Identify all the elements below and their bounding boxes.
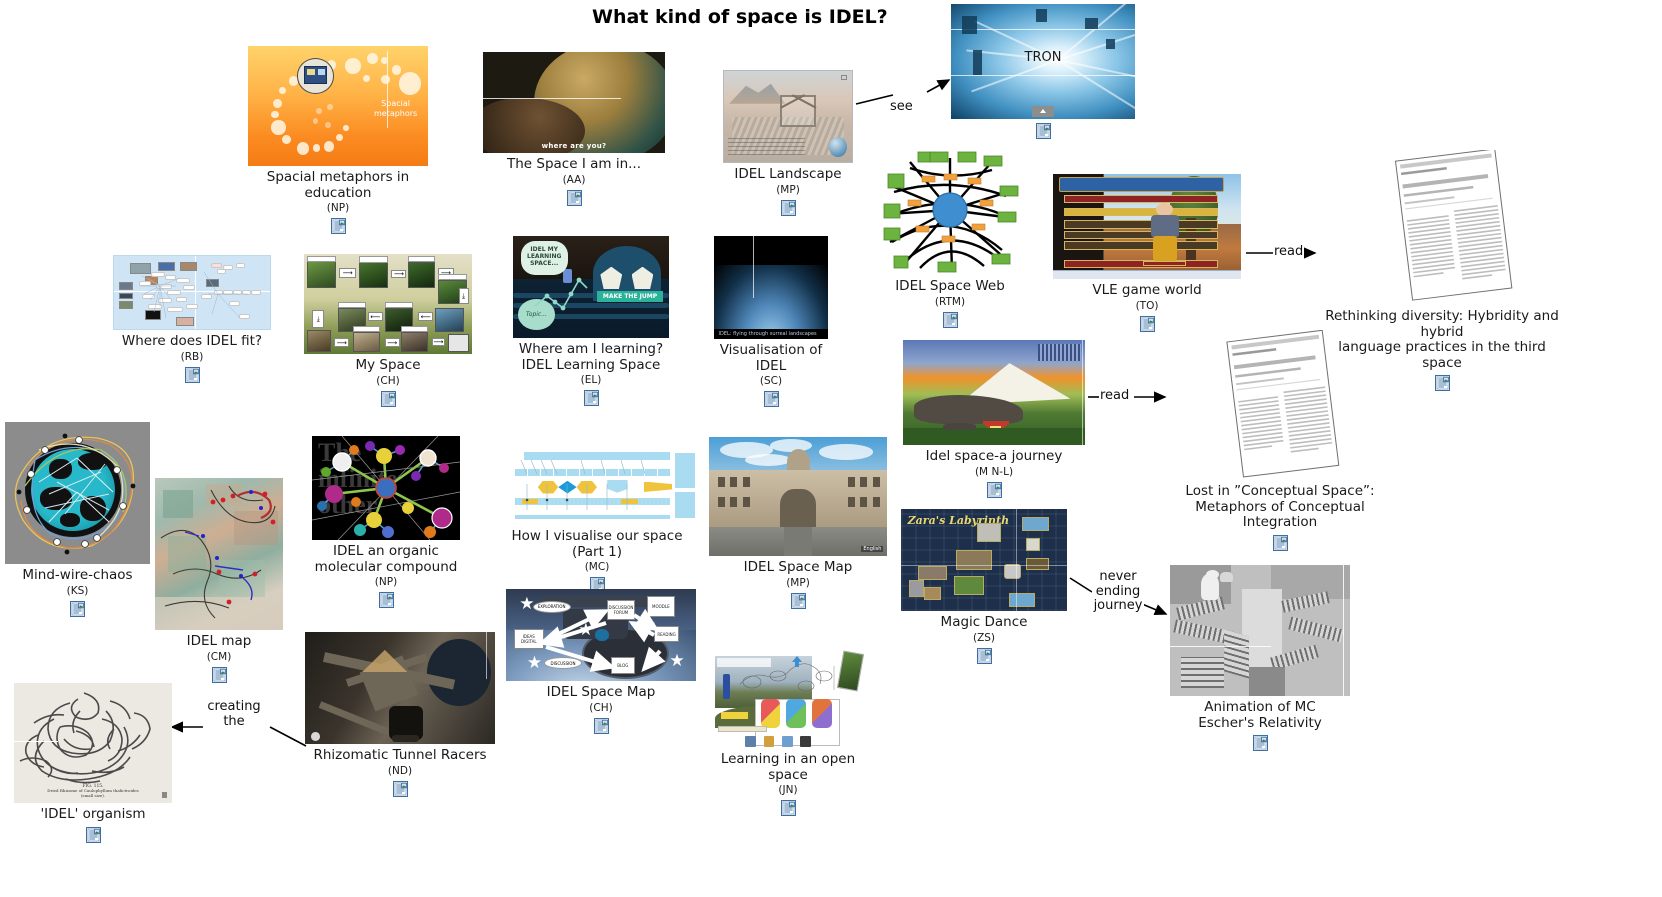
- thumbnail-idel-organic-molecular[interactable]: Theinfiniteother: [312, 436, 460, 540]
- thumbnail-paper-lost-conceptual[interactable]: [1165, 330, 1395, 480]
- node-author: (RTM): [935, 296, 965, 308]
- thumbnail-inner-text: Dried Rhizome of Caulophyllum thalictroi…: [14, 788, 172, 798]
- link-label-read-vle: read: [1273, 245, 1304, 260]
- thumbnail-idel-space-web[interactable]: [880, 150, 1020, 275]
- link-label-never-ending: never ending journey: [1092, 570, 1144, 614]
- node-how-i-visualise[interactable]: How I visualise our space (Part 1) (MC): [495, 450, 699, 593]
- document-icon[interactable]: [1253, 735, 1268, 751]
- node-idel-landscape[interactable]: IDEL Landscape (MP): [723, 70, 853, 216]
- node-label: VLE game world: [1092, 283, 1201, 299]
- node-tron[interactable]: TRON: [951, 4, 1135, 139]
- document-icon[interactable]: [791, 593, 806, 609]
- thumbnail-where-am-i-learning[interactable]: IDEL MY LEARNING SPACE... Topic... MAKE …: [513, 236, 669, 338]
- thumbnail-inner-text: TRON: [951, 50, 1135, 65]
- node-escher-relativity[interactable]: Animation of MC Escher's Relativity: [1170, 565, 1350, 751]
- node-label: How I visualise our space (Part 1): [495, 529, 699, 560]
- node-label: 'IDEL' organism: [40, 807, 145, 823]
- node-author: (EL): [581, 374, 602, 386]
- document-icon[interactable]: [987, 482, 1002, 498]
- link-label-creating-the: creating the: [203, 700, 265, 729]
- node-author: (MC): [585, 561, 610, 573]
- node-lost-conceptual-space[interactable]: Lost in ”Conceptual Space”: Metaphors of…: [1165, 330, 1395, 551]
- node-label: Where am I learning? IDEL Learning Space: [519, 342, 663, 373]
- thumbnail-inner-text: Spacial metaphors: [372, 99, 419, 119]
- document-icon[interactable]: [331, 218, 346, 234]
- node-label: Magic Dance: [941, 615, 1028, 631]
- thumbnail-mind-wire-chaos[interactable]: [5, 422, 150, 564]
- thumbnail-spacial-metaphors[interactable]: Spacial metaphors: [248, 46, 428, 166]
- node-author: (CH): [589, 702, 612, 714]
- node-label: IDEL map: [187, 634, 252, 650]
- node-label: Spacial metaphors in education: [248, 170, 428, 201]
- node-label: Mind-wire-chaos: [22, 568, 132, 584]
- mindmap-canvas: What kind of space is IDEL? see read rea…: [0, 0, 1662, 897]
- thumbnail-idel-space-map-mp[interactable]: English: [709, 437, 887, 556]
- document-icon[interactable]: [185, 367, 200, 383]
- document-icon[interactable]: [1435, 375, 1450, 391]
- node-label: The Space I am in...: [507, 157, 641, 173]
- thumbnail-learning-open-space[interactable]: [712, 636, 864, 748]
- document-icon[interactable]: [567, 190, 582, 206]
- document-icon[interactable]: [86, 827, 101, 843]
- node-label: Visualisation of IDEL: [714, 343, 828, 374]
- node-label: Idel space-a journey: [926, 449, 1063, 465]
- link-label-read-journey: read: [1099, 389, 1130, 404]
- node-author: (MP): [786, 577, 810, 589]
- document-icon[interactable]: [212, 667, 227, 683]
- node-idel-organism[interactable]: FIG. 115. Dried Rhizome of Caulophyllum …: [14, 683, 172, 843]
- thumbnail-idel-organism[interactable]: FIG. 115. Dried Rhizome of Caulophyllum …: [14, 683, 172, 803]
- thumbnail-idel-space-journey[interactable]: [903, 340, 1085, 445]
- node-label: IDEL an organic molecular compound: [315, 544, 458, 575]
- node-my-space[interactable]: ⟶ ⟶ ⟶ ⤓ ⟵ ⟵ ⤓ ⟶ ⟶ ⟶: [304, 254, 472, 407]
- link-label-see: see: [889, 100, 914, 115]
- document-icon[interactable]: [1273, 535, 1288, 551]
- node-author: (NP): [375, 576, 397, 588]
- node-label: Learning in an open space: [712, 752, 864, 783]
- node-idel-space-web[interactable]: IDEL Space Web (RTM): [880, 150, 1020, 328]
- page-title: What kind of space is IDEL?: [592, 6, 888, 28]
- node-author: (KS): [67, 585, 89, 597]
- thumbnail-tron[interactable]: TRON: [951, 4, 1135, 119]
- thumbnail-idel-map[interactable]: [155, 478, 283, 630]
- document-icon[interactable]: [381, 391, 396, 407]
- thumbnail-idel-space-map-ch[interactable]: ★ ★ ★ ★ EXPLORATION DISCUSSION IDEAS DIG…: [506, 589, 696, 681]
- node-author: (TO): [1136, 300, 1159, 312]
- document-icon[interactable]: [379, 592, 394, 608]
- document-icon[interactable]: [977, 648, 992, 664]
- document-icon[interactable]: [1140, 316, 1155, 332]
- thumbnail-paper-rethinking[interactable]: [1322, 150, 1562, 305]
- node-label: IDEL Landscape: [734, 167, 841, 183]
- node-rhizomatic-tunnel-racers[interactable]: Rhizomatic Tunnel Racers (ND): [305, 632, 495, 797]
- node-where-does-idel-fit[interactable]: Where does IDEL fit? (RB): [113, 255, 271, 383]
- document-icon[interactable]: [584, 390, 599, 406]
- document-icon[interactable]: [393, 781, 408, 797]
- node-author: (M N-L): [975, 466, 1013, 478]
- node-author: (JN): [778, 784, 797, 796]
- thumbnail-inner-text: where are you?: [483, 142, 665, 150]
- node-label: IDEL Space Map: [547, 685, 656, 701]
- thumbnail-vle-game-world[interactable]: [1053, 174, 1241, 279]
- document-icon[interactable]: [70, 601, 85, 617]
- document-icon[interactable]: [594, 718, 609, 734]
- node-author: (ND): [388, 765, 412, 777]
- thumbnail-visualisation-of-idel[interactable]: IDEL: flying through surreal landscapes: [714, 236, 828, 339]
- node-label: IDEL Space Web: [895, 279, 1005, 295]
- thumbnail-how-i-visualise[interactable]: [495, 450, 699, 525]
- document-icon[interactable]: [781, 800, 796, 816]
- node-label: Lost in ”Conceptual Space”: Metaphors of…: [1160, 484, 1400, 531]
- document-icon[interactable]: [1036, 123, 1051, 139]
- node-label: Animation of MC Escher's Relativity: [1198, 700, 1322, 731]
- node-magic-dance[interactable]: Zara's Labyrinth Magic Dance (ZS): [901, 509, 1067, 664]
- node-label: My Space: [355, 358, 420, 374]
- node-author: (RB): [181, 351, 204, 363]
- thumbnail-where-does-idel-fit[interactable]: [113, 255, 271, 330]
- node-author: (SC): [760, 375, 782, 387]
- node-author: (ZS): [973, 632, 995, 644]
- node-mind-wire-chaos[interactable]: Mind-wire-chaos (KS): [5, 422, 150, 617]
- thumbnail-idel-landscape[interactable]: [723, 70, 853, 163]
- node-idel-map[interactable]: IDEL map (CM): [155, 478, 283, 683]
- node-label: Where does IDEL fit?: [122, 334, 262, 350]
- node-idel-organic-molecular[interactable]: Theinfiniteother: [312, 436, 460, 608]
- node-where-am-i-learning[interactable]: IDEL MY LEARNING SPACE... Topic... MAKE …: [513, 236, 669, 406]
- node-author: (CM): [207, 651, 232, 663]
- node-idel-space-journey[interactable]: Idel space-a journey (M N-L): [903, 340, 1085, 498]
- node-vle-game-world[interactable]: VLE game world (TO): [1053, 174, 1241, 332]
- node-author: (AA): [563, 174, 586, 186]
- document-icon[interactable]: [764, 391, 779, 407]
- thumbnail-escher-relativity[interactable]: [1170, 565, 1350, 696]
- thumbnail-space-i-am-in[interactable]: where are you?: [483, 52, 665, 153]
- node-author: (CH): [376, 375, 399, 387]
- node-idel-space-map-ch[interactable]: ★ ★ ★ ★ EXPLORATION DISCUSSION IDEAS DIG…: [506, 589, 696, 734]
- document-icon[interactable]: [943, 312, 958, 328]
- document-icon[interactable]: [781, 200, 796, 216]
- thumbnail-rhizomatic-tunnel-racers[interactable]: [305, 632, 495, 744]
- node-idel-space-map-mp[interactable]: English IDEL Space Map (MP): [709, 437, 887, 609]
- thumbnail-magic-dance[interactable]: Zara's Labyrinth: [901, 509, 1067, 611]
- thumbnail-my-space[interactable]: ⟶ ⟶ ⟶ ⤓ ⟵ ⟵ ⤓ ⟶ ⟶ ⟶: [304, 254, 472, 354]
- node-spacial-metaphors[interactable]: Spacial metaphors Spacial metaphors in e…: [248, 46, 428, 234]
- node-author: (NP): [327, 202, 349, 214]
- thumbnail-inner-text: IDEL: flying through surreal landscapes: [719, 331, 817, 337]
- node-learning-open-space[interactable]: Learning in an open space (JN): [712, 636, 864, 816]
- node-label: Rhizomatic Tunnel Racers: [313, 748, 486, 764]
- node-author: (MP): [776, 184, 800, 196]
- node-label: IDEL Space Map: [744, 560, 853, 576]
- node-space-i-am-in[interactable]: where are you? The Space I am in... (AA): [483, 52, 665, 206]
- node-visualisation-of-idel[interactable]: IDEL: flying through surreal landscapes …: [714, 236, 828, 407]
